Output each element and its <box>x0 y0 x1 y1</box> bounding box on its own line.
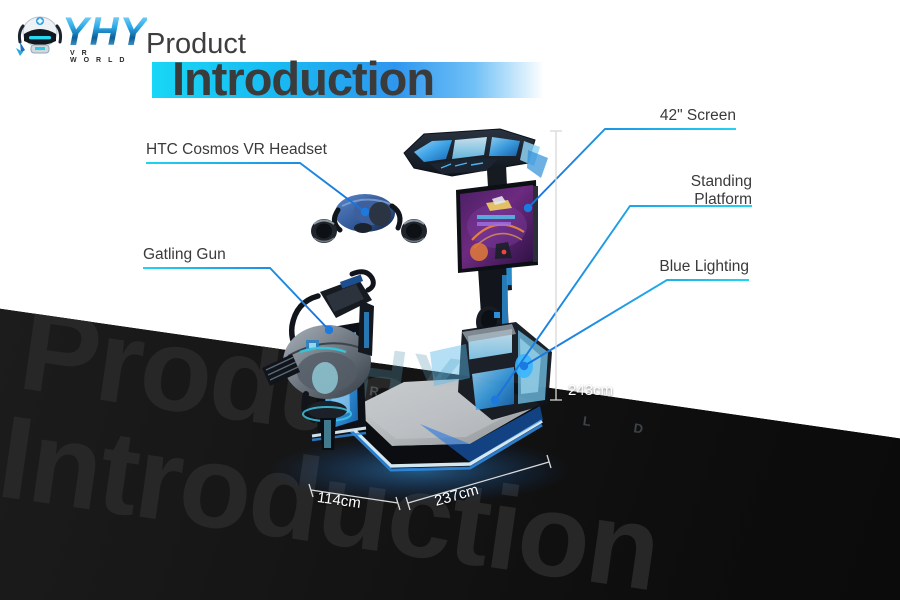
display-column <box>478 165 512 362</box>
leader-line-blue-lighting <box>524 280 749 366</box>
brand-logo-text: YHY <box>62 10 147 55</box>
callout-label-screen: 42" Screen <box>586 107 736 125</box>
leader-dot-htc-cosmos-vr-headset <box>361 208 369 216</box>
htc-cosmos-vr-headset <box>311 194 427 243</box>
brand-logo: YHY VR WORLD <box>14 8 164 64</box>
leader-dot-blue-lighting <box>520 362 528 370</box>
callout-label-gatling-gun: Gatling Gun <box>143 246 226 264</box>
vr-robot-mascot-icon <box>14 12 66 60</box>
callout-label-standing-platform-line2: Platform <box>602 191 752 209</box>
controller-holster <box>476 306 502 338</box>
page-title: Introduction <box>172 51 434 106</box>
leader-dot-screen <box>524 204 532 212</box>
screen-42-inch <box>456 180 538 273</box>
callout-label-htc-cosmos-vr-headset: HTC Cosmos VR Headset <box>146 141 327 159</box>
vr-controller-right <box>401 219 427 243</box>
callout-label-standing-platform-line1: Standing <box>691 173 752 190</box>
leader-line-gatling-gun <box>143 268 329 330</box>
slide-canvas: Product Introduction YHY V R W O R L D <box>0 0 900 600</box>
callout-label-blue-lighting: Blue Lighting <box>629 258 749 276</box>
leader-line-standing-platform <box>495 206 752 400</box>
vr-controller-left <box>311 219 337 243</box>
canopy-light-fixture <box>404 129 548 178</box>
leader-line-htc-cosmos-vr-headset <box>146 163 365 212</box>
dimension-label-height: 243cm <box>568 382 613 399</box>
callout-label-standing-platform: Standing Platform <box>602 173 752 210</box>
